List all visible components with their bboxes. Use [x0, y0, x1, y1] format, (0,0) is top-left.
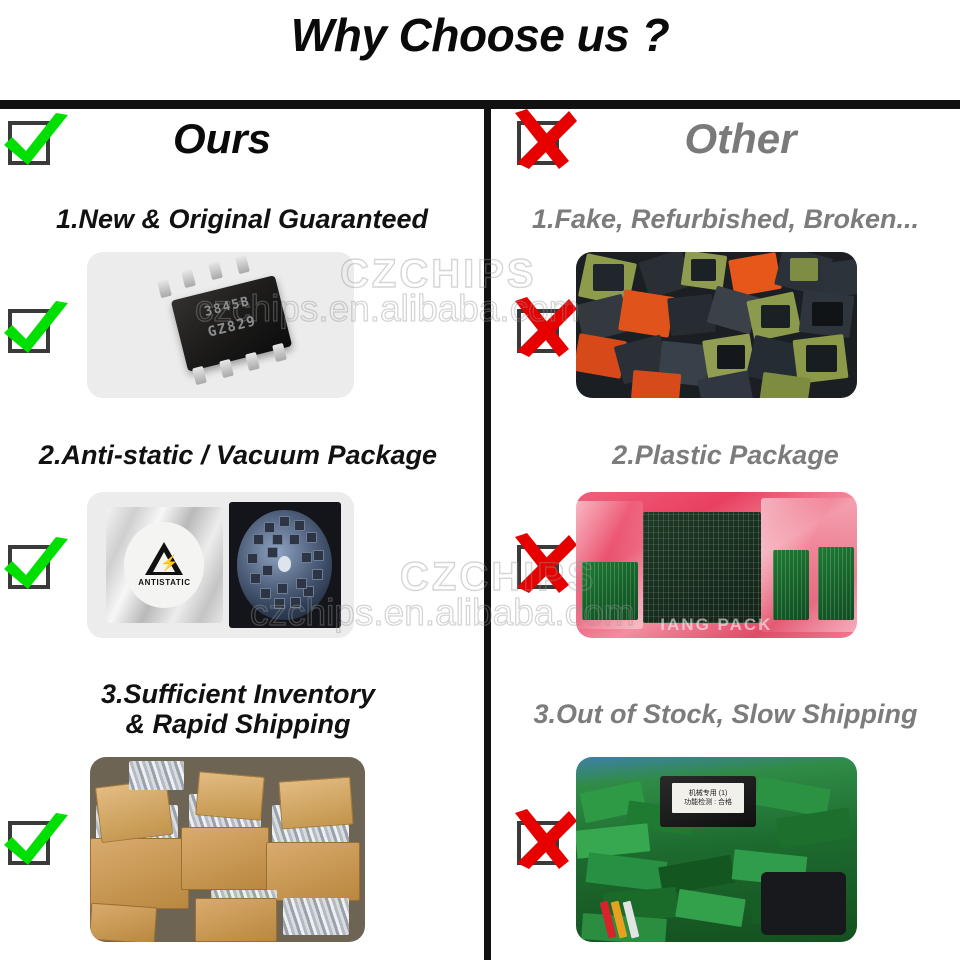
page-title: Why Choose us ?	[0, 8, 960, 62]
check-glyph	[0, 293, 72, 367]
check-glyph	[0, 805, 72, 879]
antistatic-bag: ⚡ ANTISTATIC	[106, 507, 223, 624]
cross-glyph	[507, 105, 581, 179]
horizontal-divider	[0, 100, 960, 109]
module-label-line1: 机械专用 (1)	[689, 789, 728, 798]
pcb-large	[643, 512, 761, 623]
pack-watermark: IANG PACK	[660, 615, 772, 635]
photo-warehouse-boxes	[90, 757, 365, 942]
row-label-ours-3: 3.Sufficient Inventory & Rapid Shipping	[0, 679, 476, 739]
why-choose-us-comparison-graphic: Why Choose us ? Ours 1.New & Original Gu…	[0, 0, 960, 960]
photo-antistatic-bag-reel: ⚡ ANTISTATIC	[87, 492, 354, 638]
row-label-other-1: 1.Fake, Refurbished, Broken...	[491, 204, 960, 234]
column-header-ours: Ours	[0, 115, 484, 163]
photo-soic-chip: 3845B GZ829	[87, 252, 354, 398]
row-label-ours-2: 2.Anti-static / Vacuum Package	[0, 440, 476, 470]
row-label-ours-3-line2: & Rapid Shipping	[0, 709, 476, 739]
row-label-other-2: 2.Plastic Package	[491, 440, 960, 470]
check-glyph	[0, 105, 72, 179]
component-reel-case	[229, 502, 341, 628]
photo-pink-plastic-bag-pcb: IANG PACK	[576, 492, 857, 638]
cross-mark-icon-other-header	[517, 121, 559, 165]
cross-mark-icon-other-2	[517, 545, 559, 589]
module-label-line2: 功能检测 : 合格	[684, 798, 732, 807]
check-mark-icon-ours-3	[8, 821, 50, 865]
vertical-divider	[484, 109, 491, 960]
cross-glyph	[507, 805, 581, 879]
row-label-ours-1: 1.New & Original Guaranteed	[8, 204, 476, 234]
photo-scrap-chips-pile	[576, 252, 857, 398]
black-module: 机械专用 (1) 功能检测 : 合格	[660, 776, 756, 828]
check-glyph	[0, 529, 72, 603]
photo-pcb-scrap-pile: 机械专用 (1) 功能检测 : 合格	[576, 757, 857, 942]
row-label-ours-3-line1: 3.Sufficient Inventory	[0, 679, 476, 709]
check-mark-icon-ours-1	[8, 309, 50, 353]
cross-glyph	[507, 293, 581, 367]
module-label: 机械专用 (1) 功能检测 : 合格	[672, 783, 745, 813]
check-mark-icon-ours-header	[8, 121, 50, 165]
component-reel	[237, 510, 331, 620]
lightning-bolt-triangle-icon: ⚡	[145, 542, 183, 575]
cross-glyph	[507, 529, 581, 603]
antistatic-label-text: ANTISTATIC	[138, 578, 190, 587]
antistatic-label: ⚡ ANTISTATIC	[124, 522, 204, 608]
chip-package: 3845B GZ829	[171, 275, 292, 372]
column-ours: Ours 1.New & Original Guaranteed 3845B G…	[0, 109, 484, 960]
cross-mark-icon-other-1	[517, 309, 559, 353]
column-other: Other 1.Fake, Refurbished, Broken...	[491, 109, 960, 960]
row-label-other-3: 3.Out of Stock, Slow Shipping	[491, 699, 960, 729]
cross-mark-icon-other-3	[517, 821, 559, 865]
check-mark-icon-ours-2	[8, 545, 50, 589]
